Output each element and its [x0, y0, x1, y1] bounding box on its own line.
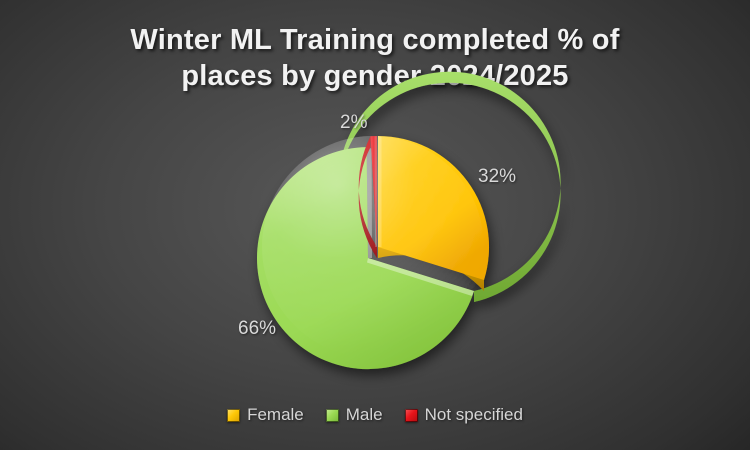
pie-slice-female: [378, 136, 489, 280]
pie-graphic: [0, 0, 750, 400]
legend-label-female: Female: [247, 405, 304, 425]
pie-slice-not-specified-bevel: [375, 136, 378, 247]
pie-chart-figure: Winter ML Training completed % of places…: [0, 0, 750, 450]
legend-swatch-not-specified-icon: [405, 409, 418, 422]
legend-swatch-male-icon: [326, 409, 339, 422]
plot-area: 2% 32% 66%: [0, 0, 750, 400]
legend-item-not-specified[interactable]: Not specified: [405, 405, 523, 425]
data-label-female: 32%: [478, 166, 516, 188]
legend-swatch-female-icon: [227, 409, 240, 422]
data-label-not-specified: 2%: [340, 112, 367, 134]
legend-item-male[interactable]: Male: [326, 405, 383, 425]
legend-label-male: Male: [346, 405, 383, 425]
pie-slice-female-bevel: [378, 136, 382, 247]
legend-label-not-specified: Not specified: [425, 405, 523, 425]
data-label-male: 66%: [238, 318, 276, 340]
chart-legend: Female Male Not specified: [0, 405, 750, 425]
legend-item-female[interactable]: Female: [227, 405, 304, 425]
